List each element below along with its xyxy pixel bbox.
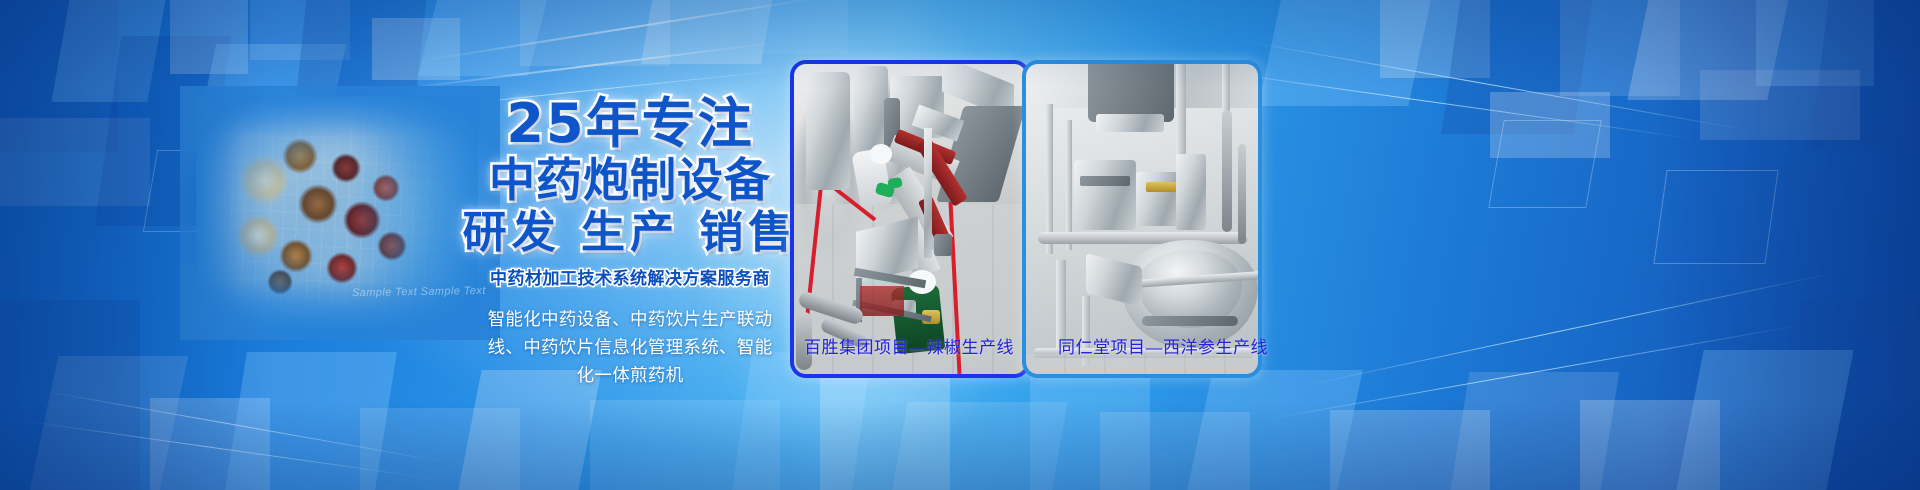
control-label	[1146, 182, 1176, 192]
platform-rail	[1038, 232, 1248, 244]
photo-caption-chili: 百胜集团项目—辣椒生产线	[804, 333, 1014, 358]
shard-outline	[1488, 120, 1602, 208]
chili-product	[860, 286, 904, 316]
photo-caption-ginseng: 同仁堂项目—西洋参生产线	[1058, 333, 1268, 358]
headline-line-3: 研发 生产 销售	[430, 208, 830, 258]
tagline: 中药材加工技术系统解决方案服务商	[430, 264, 830, 289]
process-tank	[1136, 172, 1180, 226]
pan-shadow	[1142, 316, 1238, 326]
description-text: 智能化中药设备、中药饮片生产联动线、中药饮片信息化管理系统、智能化一体煎药机	[480, 305, 780, 389]
process-tank	[1176, 154, 1206, 230]
process-tank	[1074, 160, 1136, 230]
overhead-unit	[1096, 114, 1164, 132]
promotional-banner: Sample Text Sample Text 25年专注 中药炮制设备 研发 …	[0, 0, 1920, 490]
shard-outline	[1653, 170, 1778, 264]
pipe	[1222, 110, 1232, 232]
shard	[1330, 410, 1490, 490]
headline-line-1: 25年专注	[430, 96, 830, 152]
equipment-column	[806, 72, 850, 190]
photo-chili-production-line	[794, 64, 1026, 374]
headline-line-2: 中药炮制设备	[430, 154, 830, 206]
support-post	[1066, 120, 1072, 250]
conveyor-rail	[924, 128, 932, 258]
worker-helmet	[870, 144, 892, 164]
photo-card-chili-production-line[interactable]	[790, 60, 1030, 378]
photo-ginseng-production-line	[1026, 64, 1258, 374]
waste-bin	[934, 234, 952, 256]
shard	[1100, 412, 1250, 490]
headline-block: 25年专注 中药炮制设备 研发 生产 销售 中药材加工技术系统解决方案服务商 智…	[430, 96, 830, 389]
photo-card-ginseng-production-line[interactable]	[1022, 60, 1262, 378]
shard	[1700, 70, 1860, 140]
shard	[752, 0, 848, 54]
pipe	[1238, 144, 1246, 244]
tank-detail	[1080, 176, 1130, 186]
